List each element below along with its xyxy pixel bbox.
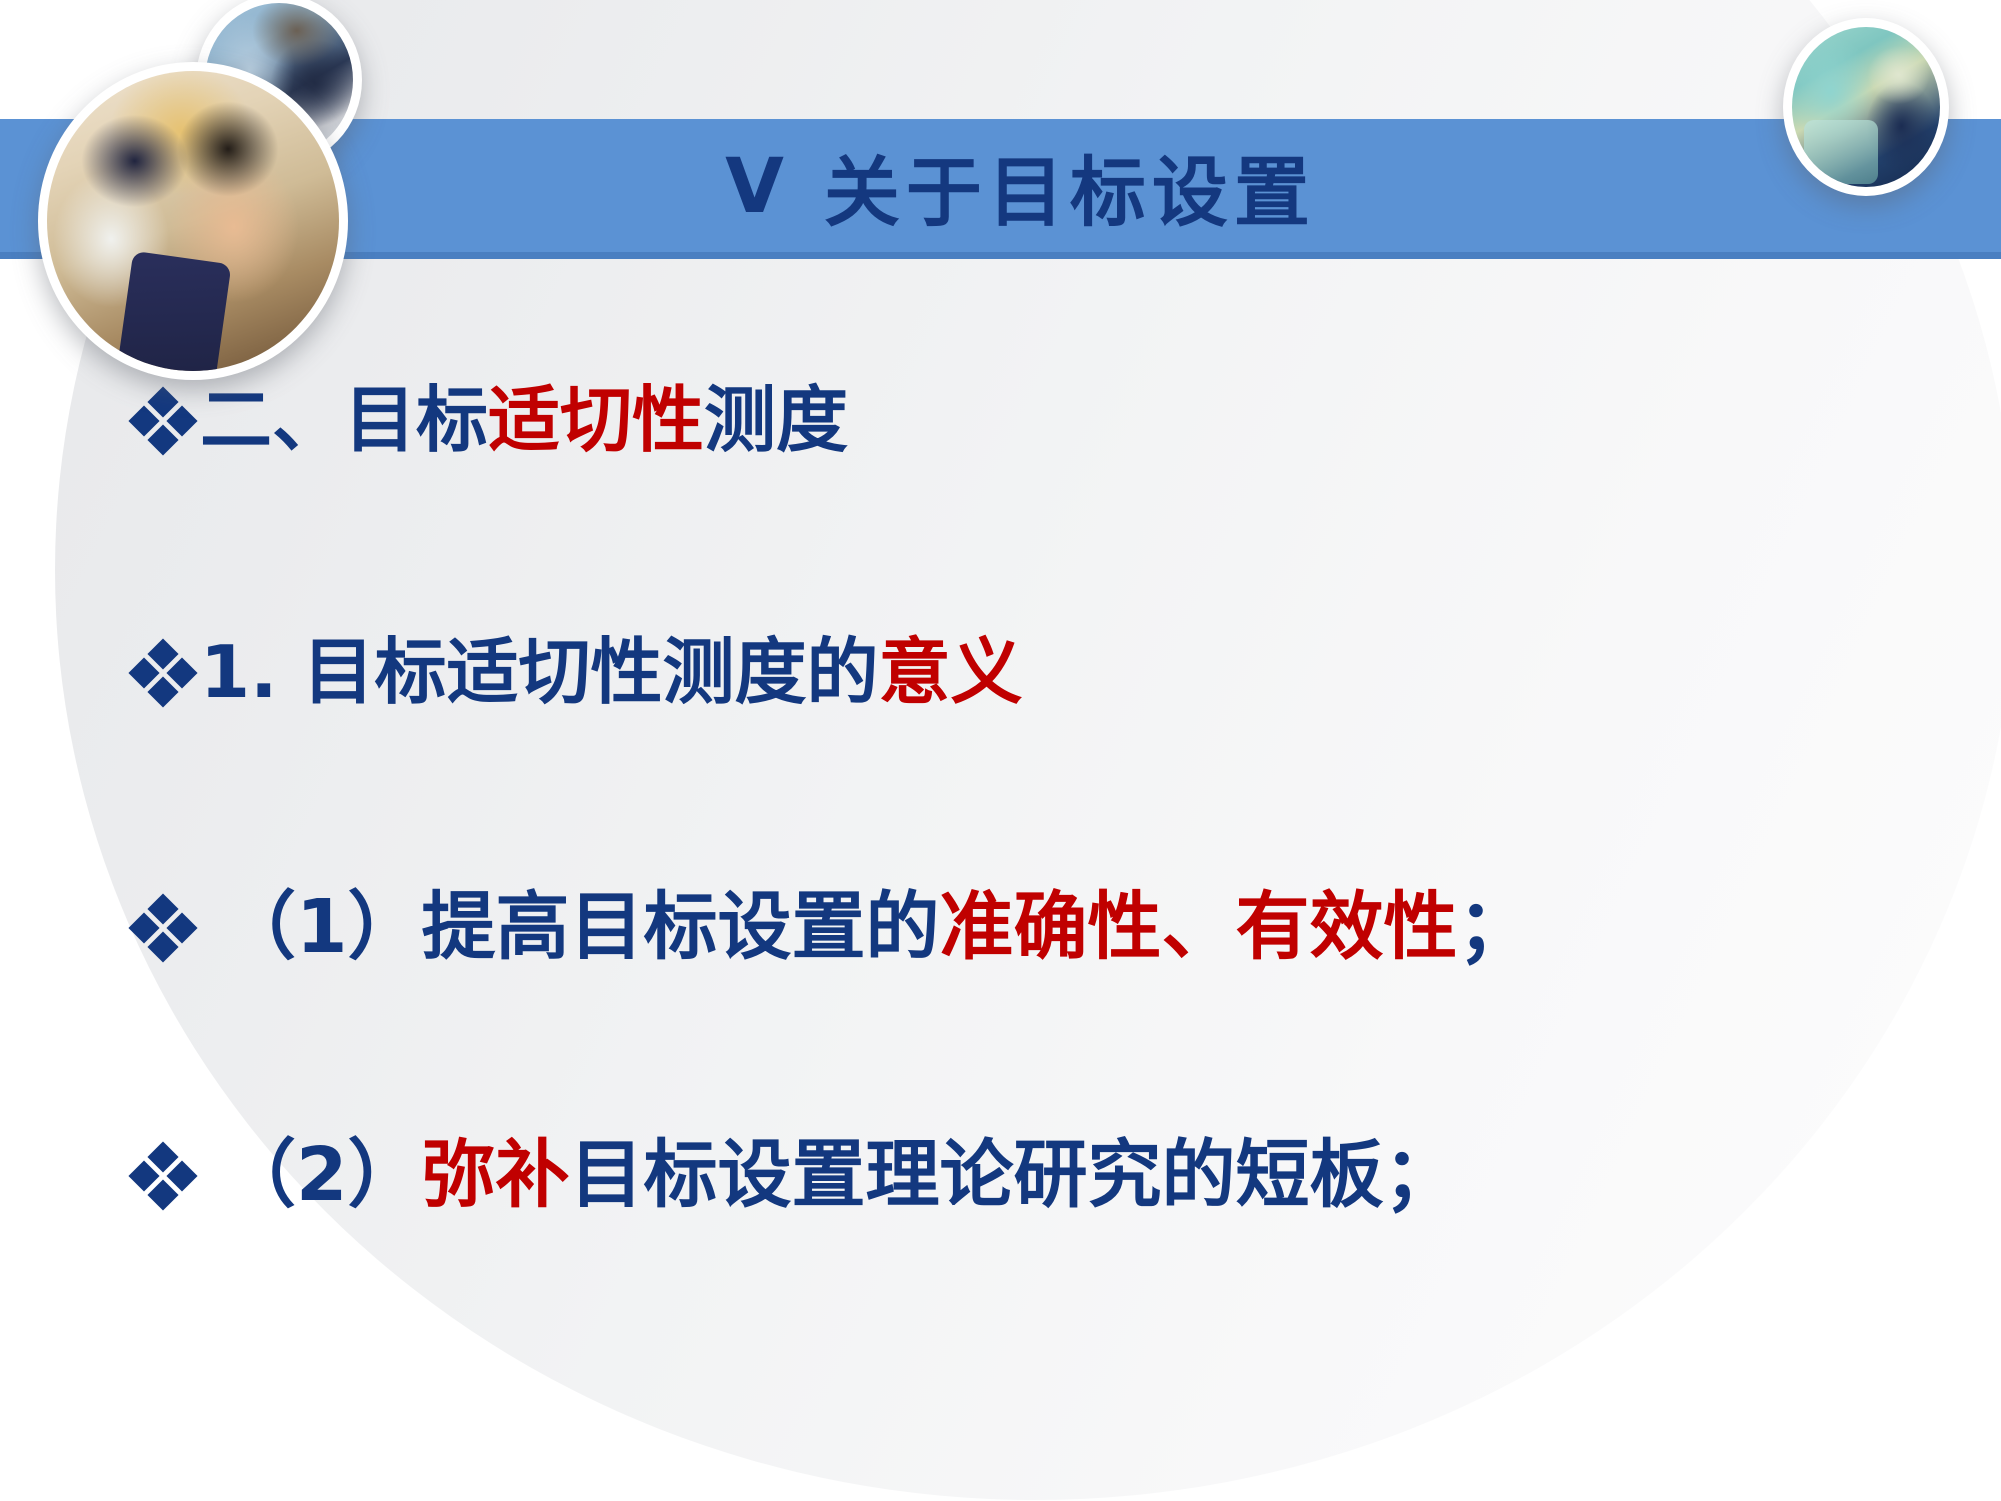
bullet-item: 二、目标适切性测度 bbox=[132, 384, 848, 456]
photo-presenter-with-chart-image bbox=[1792, 27, 1940, 187]
bullet-segment: 目标设置理论研究的短板； bbox=[570, 1132, 1458, 1218]
bullet-segment: 1. 目标适切性测度的 bbox=[200, 630, 879, 714]
bullet-segment-highlight: 适切性 bbox=[488, 378, 704, 462]
bullet-item: 1. 目标适切性测度的意义 bbox=[132, 636, 1023, 708]
bullet-segment: （2） bbox=[222, 1132, 422, 1218]
bullet-segment-highlight: 弥补 bbox=[422, 1132, 570, 1218]
bullet-segment: 测度 bbox=[704, 378, 848, 462]
bullet-segment: （1）提高目标设置的 bbox=[222, 884, 940, 970]
bullet-text: （1）提高目标设置的准确性、有效性； bbox=[222, 890, 1532, 964]
bullet-segment: ； bbox=[1458, 884, 1532, 970]
diamond-cluster-icon bbox=[132, 641, 194, 703]
photo-colleagues-at-laptop-image bbox=[47, 71, 339, 371]
diamond-cluster-icon bbox=[132, 389, 194, 451]
bullet-item: （2）弥补目标设置理论研究的短板； bbox=[132, 1138, 1458, 1212]
diamond-cluster-icon bbox=[132, 1144, 194, 1206]
bullet-segment-highlight: 意义 bbox=[879, 630, 1023, 714]
photo-colleagues-at-laptop bbox=[38, 62, 348, 380]
bullet-text: 1. 目标适切性测度的意义 bbox=[200, 636, 1023, 708]
bullet-segment: 二、目标 bbox=[200, 378, 488, 462]
bullet-item: （1）提高目标设置的准确性、有效性； bbox=[132, 890, 1532, 964]
bullet-text: 二、目标适切性测度 bbox=[200, 384, 848, 456]
bullet-text: （2）弥补目标设置理论研究的短板； bbox=[222, 1138, 1458, 1212]
presentation-slide: Ⅴ 关于目标设置 二、目标适切性测度 1. 目标适切性测度的意义 bbox=[0, 0, 2001, 1501]
bullet-segment-highlight: 准确性、有效性 bbox=[940, 884, 1458, 970]
diamond-cluster-icon bbox=[132, 896, 194, 958]
photo-presenter-with-chart bbox=[1783, 18, 1949, 196]
